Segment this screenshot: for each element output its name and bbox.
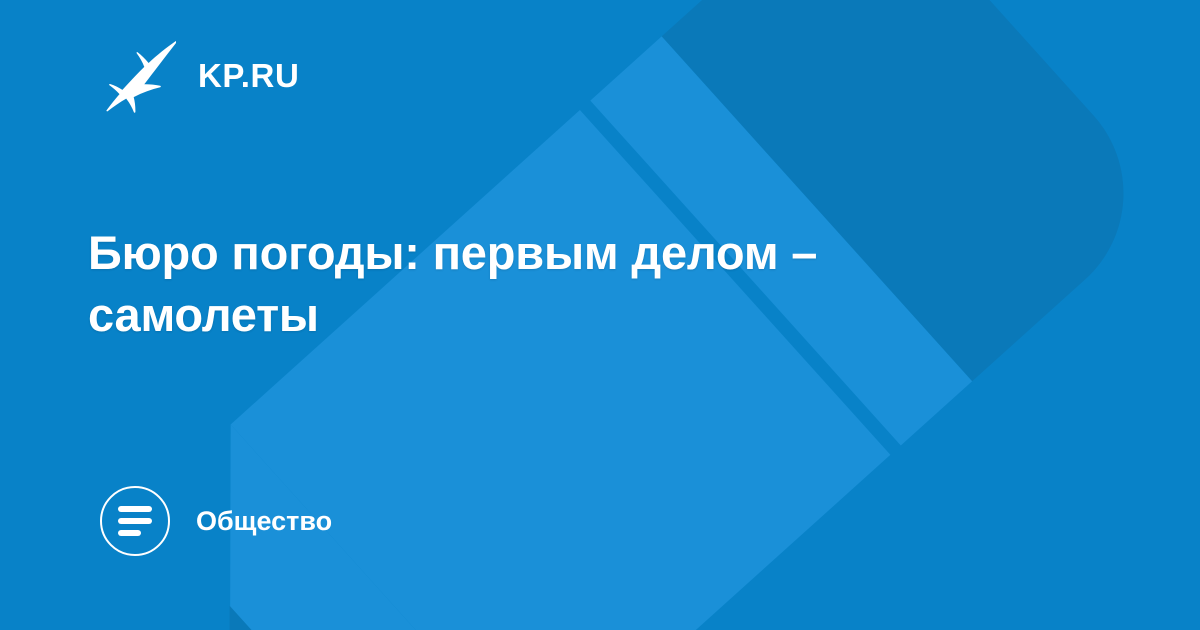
share-card: KP.RU Бюро погоды: первым делом – самоле… <box>0 0 1200 630</box>
rubric[interactable]: Общество <box>100 486 332 556</box>
hamburger-line-3 <box>118 530 141 536</box>
hamburger-lines-icon[interactable] <box>100 486 170 556</box>
page-title: Бюро погоды: первым делом – самолеты <box>88 222 1018 346</box>
hamburger-line-1 <box>118 506 152 512</box>
hamburger-line-2 <box>118 518 152 524</box>
swallow-bird-icon <box>104 37 176 113</box>
brand-name: KP.RU <box>198 59 299 92</box>
brand-lockup[interactable]: KP.RU <box>104 34 299 116</box>
rubric-label: Общество <box>196 508 332 535</box>
